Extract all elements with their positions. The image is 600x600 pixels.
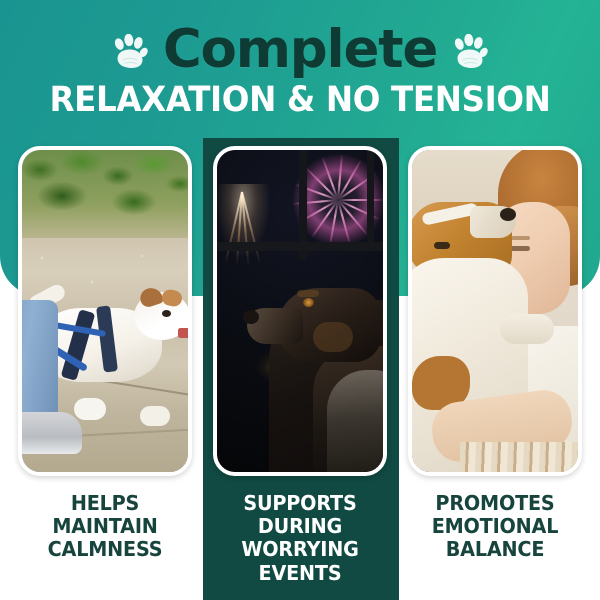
photo-dog-watching-fireworks — [217, 150, 383, 472]
headline-line-2: RELAXATION & NO TENSION — [21, 82, 579, 119]
photo-card-row — [0, 146, 600, 482]
photo-dog-on-leash — [22, 150, 188, 472]
headline-word-complete: Complete — [163, 23, 437, 76]
photo-card-helps-maintain-calmness — [18, 146, 192, 476]
headline-line-1-row: Complete — [0, 18, 600, 80]
photo-card-promotes-emotional-balance — [408, 146, 582, 476]
promo-infographic: Complete RELAXATION & NO TENSION — [0, 0, 600, 600]
caption-row: HELPS MAINTAIN CALMNESS SUPPORTS DURING … — [0, 486, 600, 600]
paw-print-icon — [111, 34, 149, 72]
headline-block: Complete RELAXATION & NO TENSION — [0, 18, 600, 119]
paw-print-icon — [451, 34, 489, 72]
caption-supports-during-worrying-events: SUPPORTS DURING WORRYING EVENTS — [209, 486, 391, 600]
photo-card-supports-during-worrying-events — [213, 146, 387, 476]
caption-promotes-emotional-balance: PROMOTES EMOTIONAL BALANCE — [404, 486, 586, 600]
caption-helps-maintain-calmness: HELPS MAINTAIN CALMNESS — [14, 486, 196, 600]
photo-child-sleeping-with-dog — [412, 150, 578, 472]
